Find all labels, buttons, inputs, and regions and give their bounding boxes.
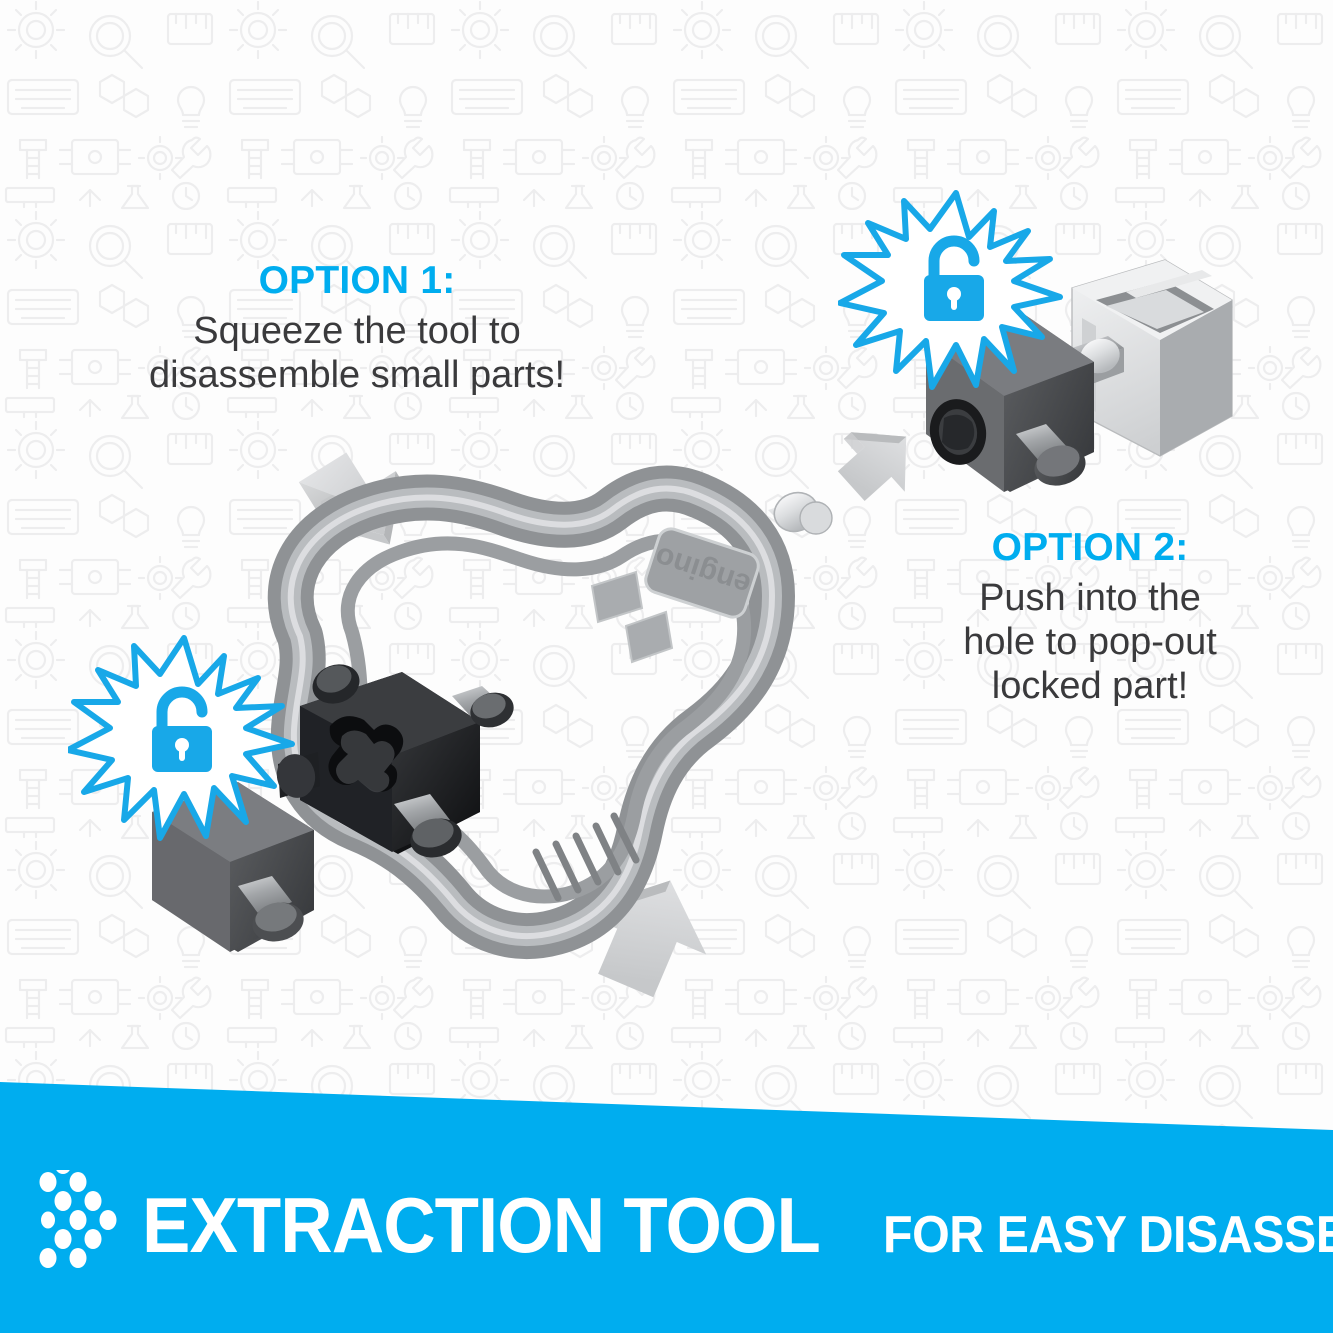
option-1-title: OPTION 1: xyxy=(92,258,622,303)
banner-title: EXTRACTION TOOL xyxy=(142,1180,820,1271)
infographic-canvas: engino xyxy=(0,0,1333,1333)
bottom-banner: EXTRACTION TOOL FOR EASY DISASSEMBLY xyxy=(0,1060,1333,1333)
option-2-body: Push into the hole to pop-out locked par… xyxy=(900,576,1280,708)
option-1-body-line-1: Squeeze the tool to xyxy=(92,309,622,353)
badge-unlock-right xyxy=(838,185,1068,400)
option-2-body-line-3: locked part! xyxy=(900,664,1280,708)
badge-unlock-left xyxy=(68,628,298,853)
option-2-body-line-2: hole to pop-out xyxy=(900,620,1280,664)
option-1-body-line-2: disassemble small parts! xyxy=(92,353,622,397)
engino-dots-chevron-logo xyxy=(36,1170,128,1280)
banner-titles: EXTRACTION TOOL FOR EASY DISASSEMBLY xyxy=(142,1180,1333,1271)
callout-option-2: OPTION 2: Push into the hole to pop-out … xyxy=(900,525,1280,708)
option-2-title: OPTION 2: xyxy=(900,525,1280,570)
banner-content: EXTRACTION TOOL FOR EASY DISASSEMBLY xyxy=(0,1175,1333,1275)
banner-subtitle: FOR EASY DISASSEMBLY xyxy=(883,1205,1333,1265)
option-2-body-line-1: Push into the xyxy=(900,576,1280,620)
callout-option-1: OPTION 1: Squeeze the tool to disassembl… xyxy=(92,258,622,397)
option-1-body: Squeeze the tool to disassemble small pa… xyxy=(92,309,622,397)
